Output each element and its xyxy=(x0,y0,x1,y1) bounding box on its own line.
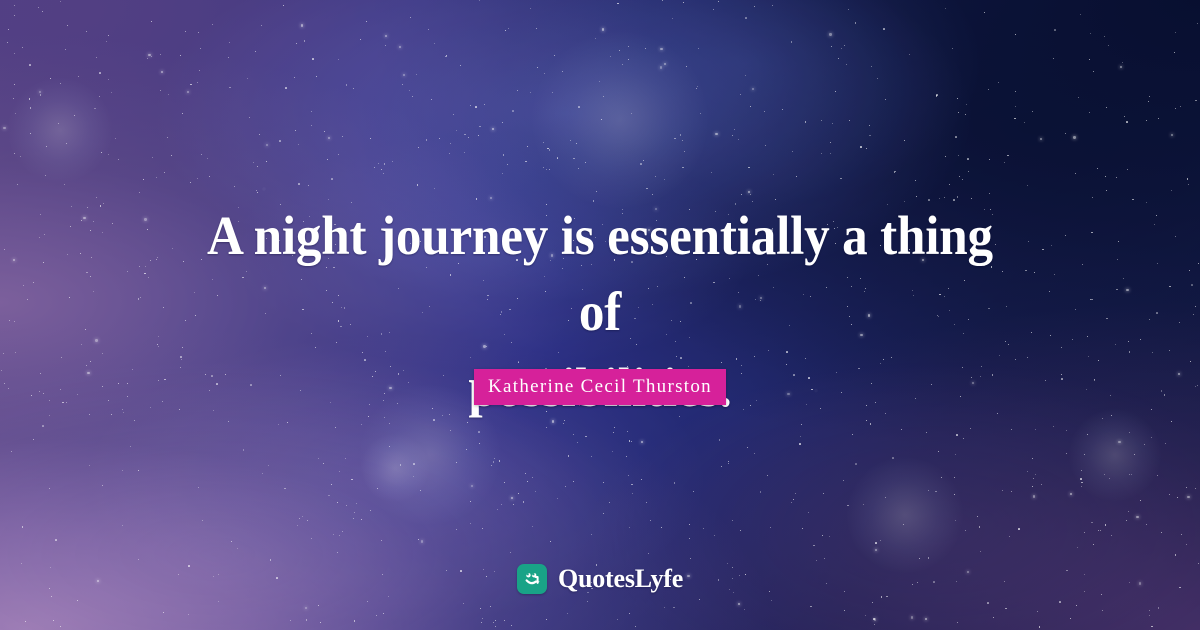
author-attribution: Katherine Cecil Thurston xyxy=(0,369,1200,405)
brand-name: QuotesLyfe xyxy=(558,566,683,592)
quote-line-1: A night journey is essentially a thing o… xyxy=(182,198,1019,350)
quote-marks-icon xyxy=(517,564,547,594)
brand-logo[interactable]: QuotesLyfe xyxy=(0,564,1200,594)
author-name-badge: Katherine Cecil Thurston xyxy=(474,369,726,405)
quote-card: A night journey is essentially a thing o… xyxy=(0,0,1200,630)
card-content: A night journey is essentially a thing o… xyxy=(0,0,1200,630)
